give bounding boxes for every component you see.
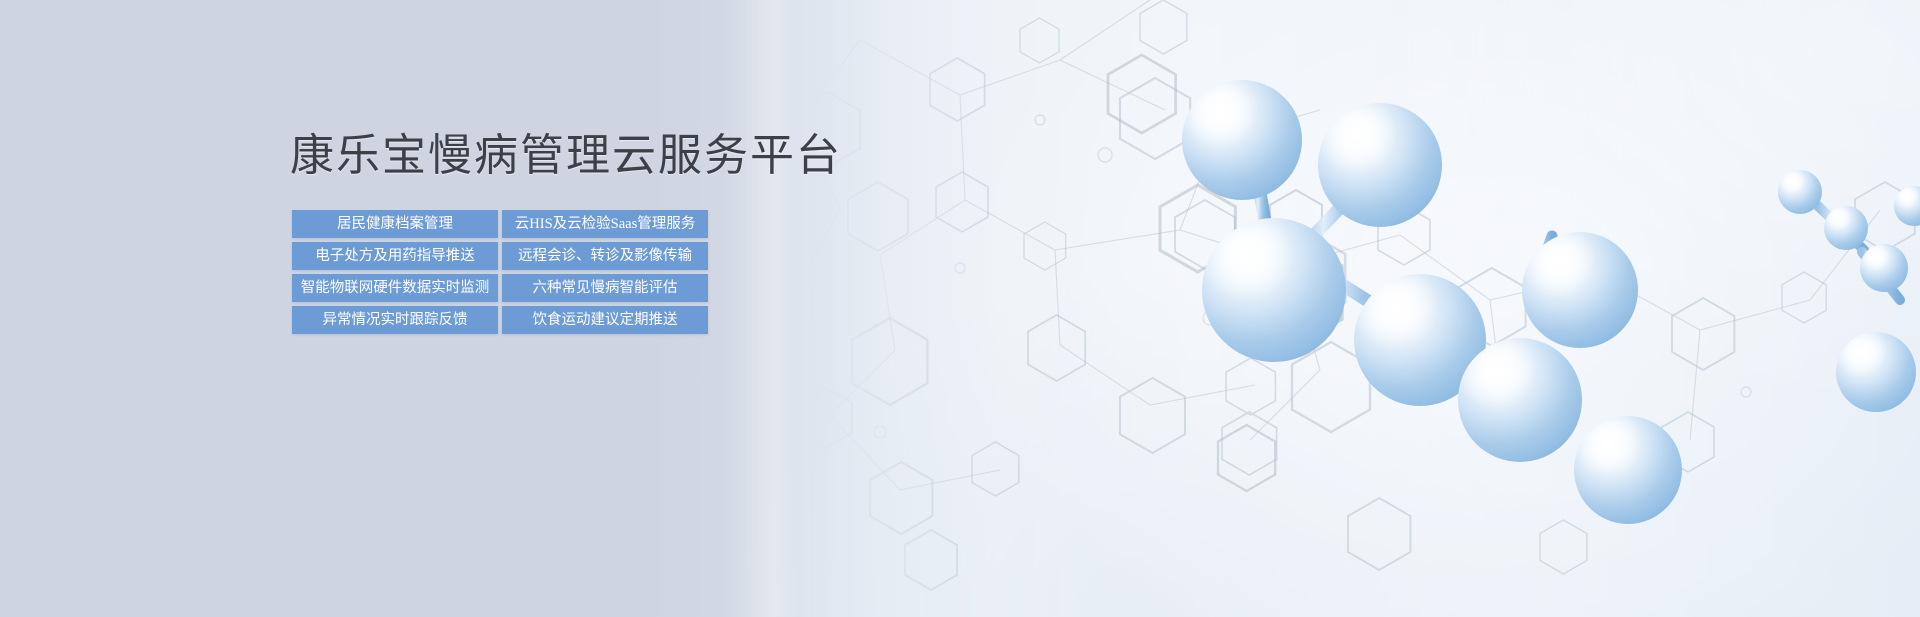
feature-tile[interactable]: 云HIS及云检验Saas管理服务 (502, 210, 708, 238)
feature-tile-grid: 居民健康档案管理 云HIS及云检验Saas管理服务 电子处方及用药指导推送 远程… (292, 210, 708, 334)
page-title: 康乐宝慢病管理云服务平台 (290, 119, 842, 183)
feature-tile[interactable]: 饮食运动建议定期推送 (502, 306, 708, 334)
hero-banner: 康乐宝慢病管理云服务平台 居民健康档案管理 云HIS及云检验Saas管理服务 电… (0, 0, 1920, 617)
feature-tile[interactable]: 异常情况实时跟踪反馈 (292, 306, 498, 334)
banner-content: 康乐宝慢病管理云服务平台 居民健康档案管理 云HIS及云检验Saas管理服务 电… (0, 0, 1920, 617)
feature-tile[interactable]: 远程会诊、转诊及影像传输 (502, 242, 708, 270)
feature-tile[interactable]: 电子处方及用药指导推送 (292, 242, 498, 270)
feature-tile[interactable]: 智能物联网硬件数据实时监测 (292, 274, 498, 302)
feature-tile[interactable]: 六种常见慢病智能评估 (502, 274, 708, 302)
feature-tile[interactable]: 居民健康档案管理 (292, 210, 498, 238)
